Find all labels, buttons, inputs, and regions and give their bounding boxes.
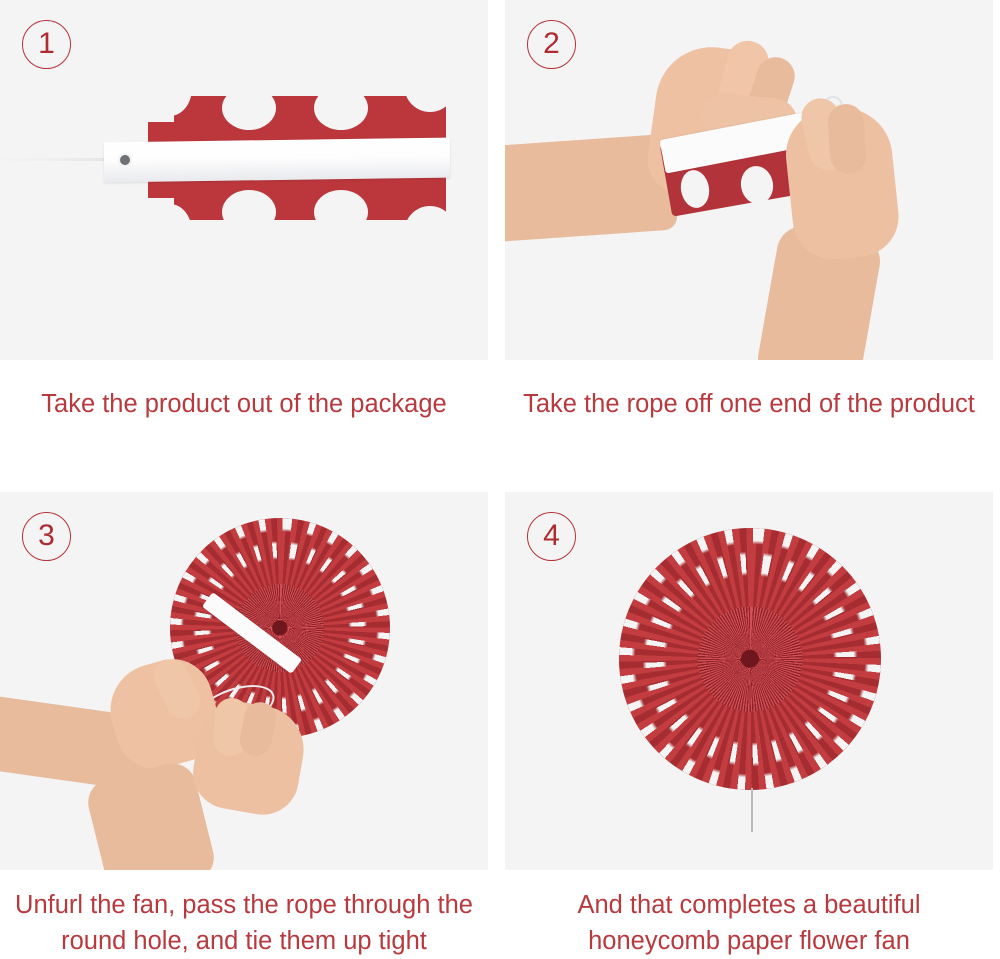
step-panel-3: 3 <box>0 492 488 959</box>
fan-notch <box>128 198 174 244</box>
step-3-scene <box>0 492 488 870</box>
grommet-hole <box>120 155 130 165</box>
caption-line: honeycomb paper flower fan <box>505 923 993 959</box>
caption-line: And that completes a beautiful <box>505 887 993 923</box>
step-panel-1: 1 <box>0 0 488 422</box>
hanging-string <box>751 788 753 832</box>
fan-notch <box>222 190 276 234</box>
step-1-caption: Take the product out of the package <box>0 360 488 422</box>
fan-notch <box>128 76 174 122</box>
white-card-strip <box>104 138 451 183</box>
step-1-scene <box>0 0 488 360</box>
step-3-photo: 3 <box>0 492 488 870</box>
caption-line: Unfurl the fan, pass the rope through th… <box>0 887 488 923</box>
fan-notch <box>314 190 368 234</box>
step-2-badge: 2 <box>527 20 576 69</box>
step-3-badge: 3 <box>22 512 71 561</box>
caption-line: Take the rope off one end of the product <box>505 386 993 422</box>
step-4-caption: And that completes a beautiful honeycomb… <box>505 870 993 959</box>
fan-notch <box>404 58 456 112</box>
right-finger <box>827 103 868 175</box>
step-2-caption: Take the rope off one end of the product <box>505 360 993 422</box>
fan-notch <box>404 206 456 260</box>
finished-red-fan <box>619 528 881 790</box>
fan-notch <box>222 86 276 130</box>
step-4-badge: 4 <box>527 512 576 561</box>
fan-notch <box>314 86 368 130</box>
step-3-caption: Unfurl the fan, pass the rope through th… <box>0 870 488 959</box>
step-1-photo: 1 <box>0 0 488 360</box>
step-panel-4: 4 And that completes a beautiful honeyco… <box>505 492 993 959</box>
caption-line: round hole, and tie them up tight <box>0 923 488 959</box>
step-panel-2: 2 <box>505 0 993 422</box>
step-2-scene <box>505 0 993 360</box>
caption-line: Take the product out of the package <box>0 386 488 422</box>
instruction-sheet: 1 <box>0 0 1000 956</box>
step-2-photo: 2 <box>505 0 993 360</box>
step-1-badge: 1 <box>22 20 71 69</box>
step-4-photo: 4 <box>505 492 993 870</box>
